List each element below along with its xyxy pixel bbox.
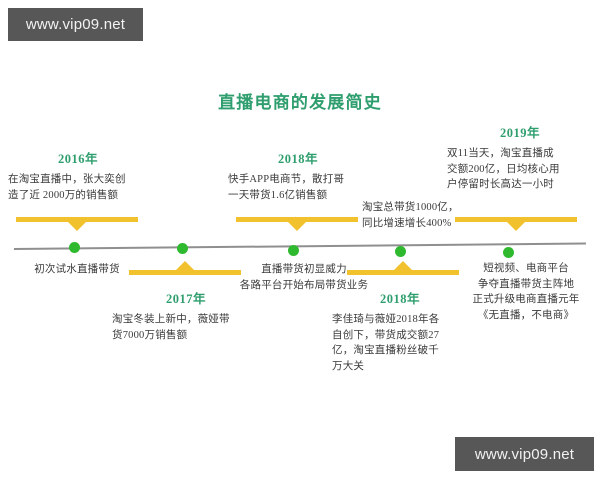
watermark-top-left: www.vip09.net [8,8,143,41]
event-line: 户停留时长高达一小时 [447,177,593,193]
event-description: 短视频、电商平台 争夺直播带货主阵地 正式升级电商直播元年 《无直播，不电商》 [456,261,596,323]
event-below-2017: 2017年 淘宝冬装上新中，薇娅带 货7000万销售额 [112,288,260,343]
event-description: 快手APP电商节，散打哥 一天带货1.6亿销售额 [228,172,368,203]
watermark-bottom-right: www.vip09.net [455,437,594,471]
event-above-2016: 2016年 在淘宝直播中，张大奕创 造了近 2000万的销售额 [8,148,148,203]
timeline-dot-3 [288,245,299,256]
event-line: 短视频、电商平台 [456,261,596,277]
event-below-first-try: 初次试水直播带货 [22,262,132,278]
event-line: 在淘宝直播中，张大奕创 [8,172,148,188]
marker-bar-below-1 [129,270,241,275]
event-line: 争夺直播带货主阵地 [456,277,596,293]
timeline-dot-1 [69,242,80,253]
timeline-dot-2 [177,243,188,254]
event-line: 交额200亿，日均核心用 [447,162,593,178]
event-year-label: 2018年 [332,288,468,307]
event-line: 淘宝冬装上新中，薇娅带 [112,312,260,328]
event-line: 《无直播，不电商》 [456,308,596,324]
event-line: 造了近 2000万的销售额 [8,188,148,204]
timeline-dot-4 [395,246,406,257]
event-line: 一天带货1.6亿销售额 [228,188,368,204]
event-line: 快手APP电商节，散打哥 [228,172,368,188]
marker-bar-below-2 [347,270,459,275]
page-title: 直播电商的发展简史 [0,88,600,113]
event-year-label: 2018年 [228,148,368,167]
marker-triangle-icon [288,222,306,231]
event-description: 在淘宝直播中，张大奕创 造了近 2000万的销售额 [8,172,148,203]
infographic-canvas: www.vip09.net www.vip09.net 直播电商的发展简史 20… [0,0,600,480]
event-below-short-video: 短视频、电商平台 争夺直播带货主阵地 正式升级电商直播元年 《无直播，不电商》 [456,261,596,323]
event-below-2018-kol: 2018年 李佳琦与薇娅2018年各 自创下，带货成交额27 亿，淘宝直播粉丝破… [332,288,468,374]
event-line: 自创下，带货成交额27 [332,328,468,344]
event-line: 双11当天，淘宝直播成 [447,146,593,162]
event-line: 初次试水直播带货 [22,262,132,278]
event-line: 淘宝总带货1000亿， [362,200,482,216]
event-line: 李佳琦与薇娅2018年各 [332,312,468,328]
marker-bar-above-1 [16,217,138,222]
event-description: 李佳琦与薇娅2018年各 自创下，带货成交额27 亿，淘宝直播粉丝破千 万大关 [332,312,468,374]
marker-triangle-icon [68,222,86,231]
marker-triangle-icon [176,261,194,270]
event-above-2018-kuaishou: 2018年 快手APP电商节，散打哥 一天带货1.6亿销售额 [228,148,368,203]
marker-bar-above-3 [455,217,577,222]
event-year-label: 2016年 [8,148,148,167]
marker-triangle-icon [507,222,525,231]
event-line: 亿，淘宝直播粉丝破千 [332,343,468,359]
event-line: 正式升级电商直播元年 [456,292,596,308]
event-description: 淘宝总带货1000亿， 同比增速增长400% [362,200,482,231]
marker-bar-above-2 [236,217,358,222]
event-above-2019: 2019年 双11当天，淘宝直播成 交额200亿，日均核心用 户停留时长高达一小… [447,122,593,193]
event-description: 淘宝冬装上新中，薇娅带 货7000万销售额 [112,312,260,343]
timeline-dot-5 [503,247,514,258]
event-description: 双11当天，淘宝直播成 交额200亿，日均核心用 户停留时长高达一小时 [447,146,593,193]
event-line: 货7000万销售额 [112,328,260,344]
event-description: 初次试水直播带货 [22,262,132,278]
event-above-taobao-total: 淘宝总带货1000亿， 同比增速增长400% [362,200,482,231]
marker-triangle-icon [394,261,412,270]
event-year-label: 2019年 [447,122,593,141]
timeline-axis [14,243,586,250]
event-line: 万大关 [332,359,468,375]
